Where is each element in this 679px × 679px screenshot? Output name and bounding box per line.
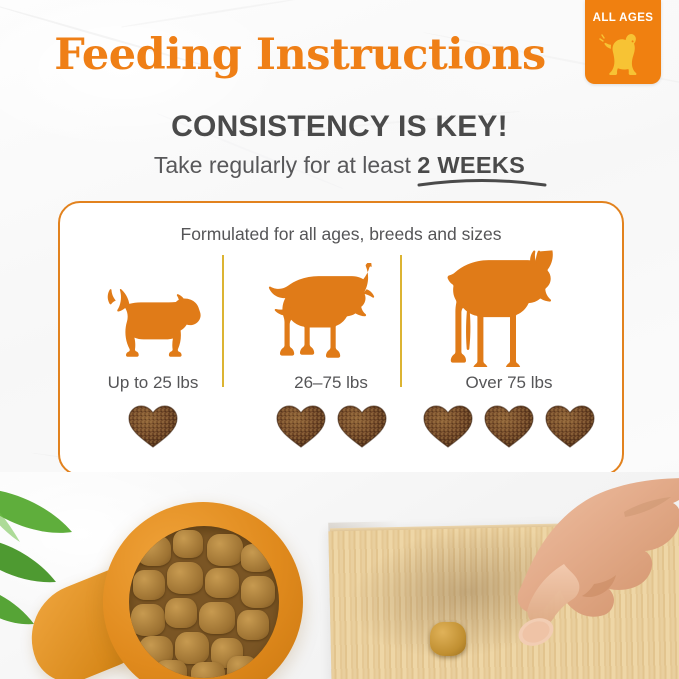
page-title: Feeding Instructions: [0, 34, 600, 77]
hand-holding-kibble: [388, 472, 679, 679]
weight-label-medium: 26–75 lbs: [238, 373, 424, 393]
feeding-column-large: Over 75 lbs: [416, 243, 602, 449]
medium-dog-icon: [238, 243, 424, 367]
heart-treat-icon: [482, 401, 536, 449]
treat-count-medium: [238, 401, 424, 449]
all-ages-badge: ALL AGES: [585, 0, 661, 84]
all-ages-badge-label: ALL AGES: [585, 12, 661, 24]
card-heading: Formulated for all ages, breeds and size…: [60, 224, 622, 245]
feeding-instructions-page: Feeding Instructions ALL AGES CONSISTENC…: [0, 0, 679, 679]
heart-treat-icon: [543, 401, 597, 449]
treat-count-small: [60, 401, 246, 449]
treat-count-large: [416, 401, 602, 449]
lifestyle-photo: [0, 472, 679, 679]
heart-treat-icon: [335, 401, 389, 449]
tagline-emphasis: 2 WEEKS: [417, 152, 525, 178]
tagline-underline: [417, 176, 547, 188]
weight-label-large: Over 75 lbs: [416, 373, 602, 393]
heart-treat-icon: [421, 401, 475, 449]
feeding-chart-card: Formulated for all ages, breeds and size…: [58, 201, 624, 476]
heart-treat-icon: [126, 401, 180, 449]
tagline: Take regularly for at least 2 WEEKS: [0, 152, 679, 179]
small-dog-icon: [60, 243, 246, 367]
scoop-interior: [129, 526, 279, 678]
heart-treat-icon: [274, 401, 328, 449]
large-dog-icon: [416, 243, 602, 367]
tagline-prefix: Take regularly for at least: [154, 152, 417, 178]
sitting-dog-icon: [597, 30, 649, 78]
consistency-headline: CONSISTENCY IS KEY!: [0, 110, 679, 144]
feeding-column-medium: 26–75 lbs: [238, 243, 424, 449]
weight-label-small: Up to 25 lbs: [60, 373, 246, 393]
feeding-column-small: Up to 25 lbs: [60, 243, 246, 449]
